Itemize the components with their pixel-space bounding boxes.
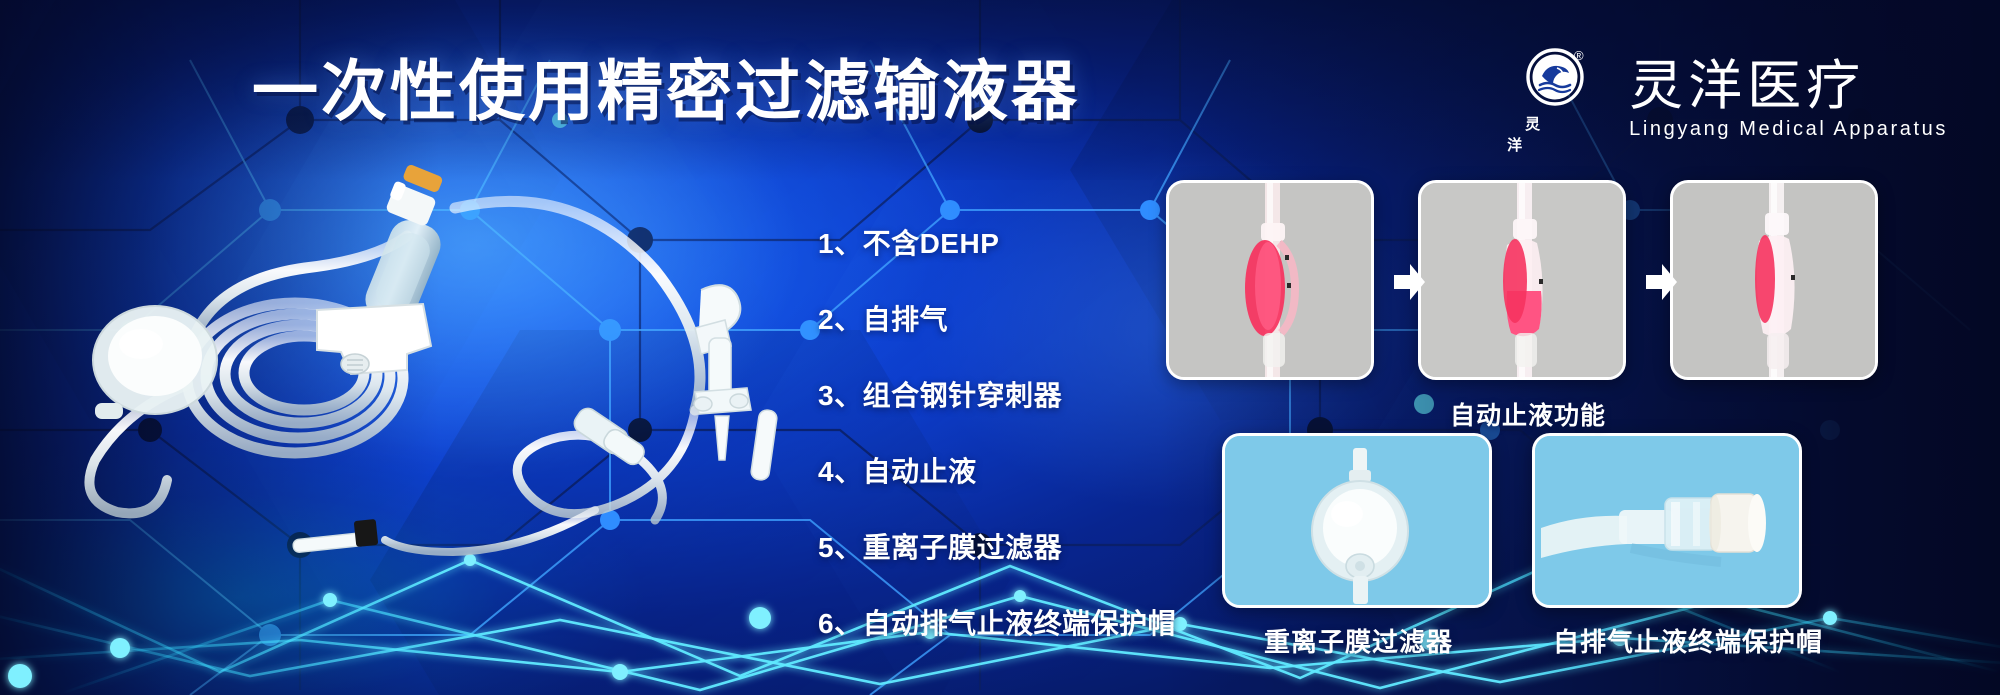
brand-name-cn: 灵洋医疗 [1629, 58, 1948, 115]
needle-protector-cap [750, 409, 778, 481]
page-title: 一次性使用精密过滤输液器 [252, 48, 1032, 134]
end-cap-caption: 自排气止液终端保护帽 [1553, 622, 1823, 659]
logo-wave-icon: ® [1524, 44, 1590, 110]
infusion-set-illustration [55, 160, 815, 560]
filter-graphic [1225, 436, 1492, 608]
product-banner: 一次性使用精密过滤输液器 ® 灵 洋 灵洋医疗 Lingyang Med [0, 0, 2000, 695]
feature-item-2: 2、自排气 [818, 298, 1176, 338]
auto-stop-step-1-photo [1166, 180, 1374, 380]
logo-subtitle-cn: 灵 洋 [1507, 113, 1607, 155]
company-logo: ® 灵 洋 [1507, 44, 1607, 155]
brand-name-block: 灵洋医疗 Lingyang Medical Apparatus [1629, 58, 1948, 140]
feature-item-3: 3、组合钢针穿刺器 [818, 374, 1176, 414]
end-cap-photo-panel [1532, 433, 1802, 608]
feature-item-4: 4、自动止液 [818, 450, 1176, 490]
product-photo-infusion-set [55, 160, 815, 560]
feature-item-5: 5、重离子膜过滤器 [818, 526, 1176, 566]
auto-stop-step-2-photo [1418, 180, 1626, 380]
arrow-right-icon-1 [1392, 262, 1426, 302]
brand-name-en: Lingyang Medical Apparatus [1629, 118, 1948, 141]
title-block: 一次性使用精密过滤输液器 [252, 48, 1032, 134]
feature-item-6: 6、自动排气止液终端保护帽 [818, 602, 1176, 642]
end-connector [293, 519, 379, 553]
auto-stop-step-3-photo [1670, 180, 1878, 380]
auto-stop-caption: 自动止液功能 [1450, 396, 1606, 432]
filter-caption: 重离子膜过滤器 [1264, 622, 1453, 659]
step3-graphic [1673, 183, 1878, 380]
brand-lockup: ® 灵 洋 灵洋医疗 Lingyang Medical Apparatus [1507, 44, 1948, 155]
roller-clamp [317, 304, 431, 374]
step2-graphic [1421, 183, 1626, 380]
filter-photo-panel [1222, 433, 1492, 608]
step1-graphic [1169, 183, 1374, 380]
feature-list: 1、不含DEHP 2、自排气 3、组合钢针穿刺器 4、自动止液 5、重离子膜过滤… [818, 222, 1176, 642]
logo-emblem-icon: ® [1524, 44, 1590, 110]
end-cap-graphic [1535, 436, 1802, 608]
arrow-right-icon-2 [1644, 262, 1678, 302]
feature-item-1: 1、不含DEHP [818, 222, 1176, 262]
registered-mark: ® [1574, 48, 1584, 63]
